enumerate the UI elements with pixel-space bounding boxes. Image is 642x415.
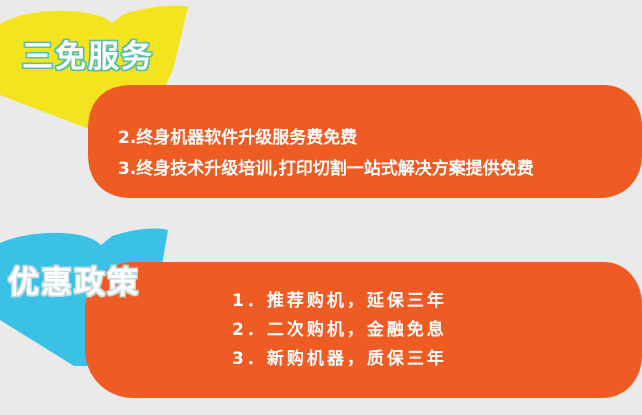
section-title-three-free-service: 三免服务 xyxy=(22,42,154,73)
corner-mask-panel-two-upper-right xyxy=(604,262,642,305)
list-item: 2．二次购机，金融免息 xyxy=(232,316,447,345)
service-benefit-list: 2.终身机器软件升级服务费免费 3.终身技术升级培训,打印切割一站式解决方案提供… xyxy=(118,123,534,185)
section-title-preferential-policy: 优惠政策 xyxy=(8,268,140,299)
corner-mask-panel-one-bottom-right xyxy=(600,156,642,198)
list-item: 1．推荐购机，延保三年 xyxy=(232,287,447,316)
list-item: 3.终身技术升级培训,打印切割一站式解决方案提供免费 xyxy=(118,154,534,185)
corner-mask-panel-one-upper-right xyxy=(604,85,642,127)
list-item: 3．新购机器，质保三年 xyxy=(232,345,447,374)
corner-mask-panel-two-bottom-right xyxy=(602,355,642,398)
list-item: 2.终身机器软件升级服务费免费 xyxy=(118,123,534,154)
policy-benefit-list: 1．推荐购机，延保三年 2．二次购机，金融免息 3．新购机器，质保三年 xyxy=(232,287,447,374)
promo-poster: 三免服务 2.终身机器软件升级服务费免费 3.终身技术升级培训,打印切割一站式解… xyxy=(0,0,642,415)
